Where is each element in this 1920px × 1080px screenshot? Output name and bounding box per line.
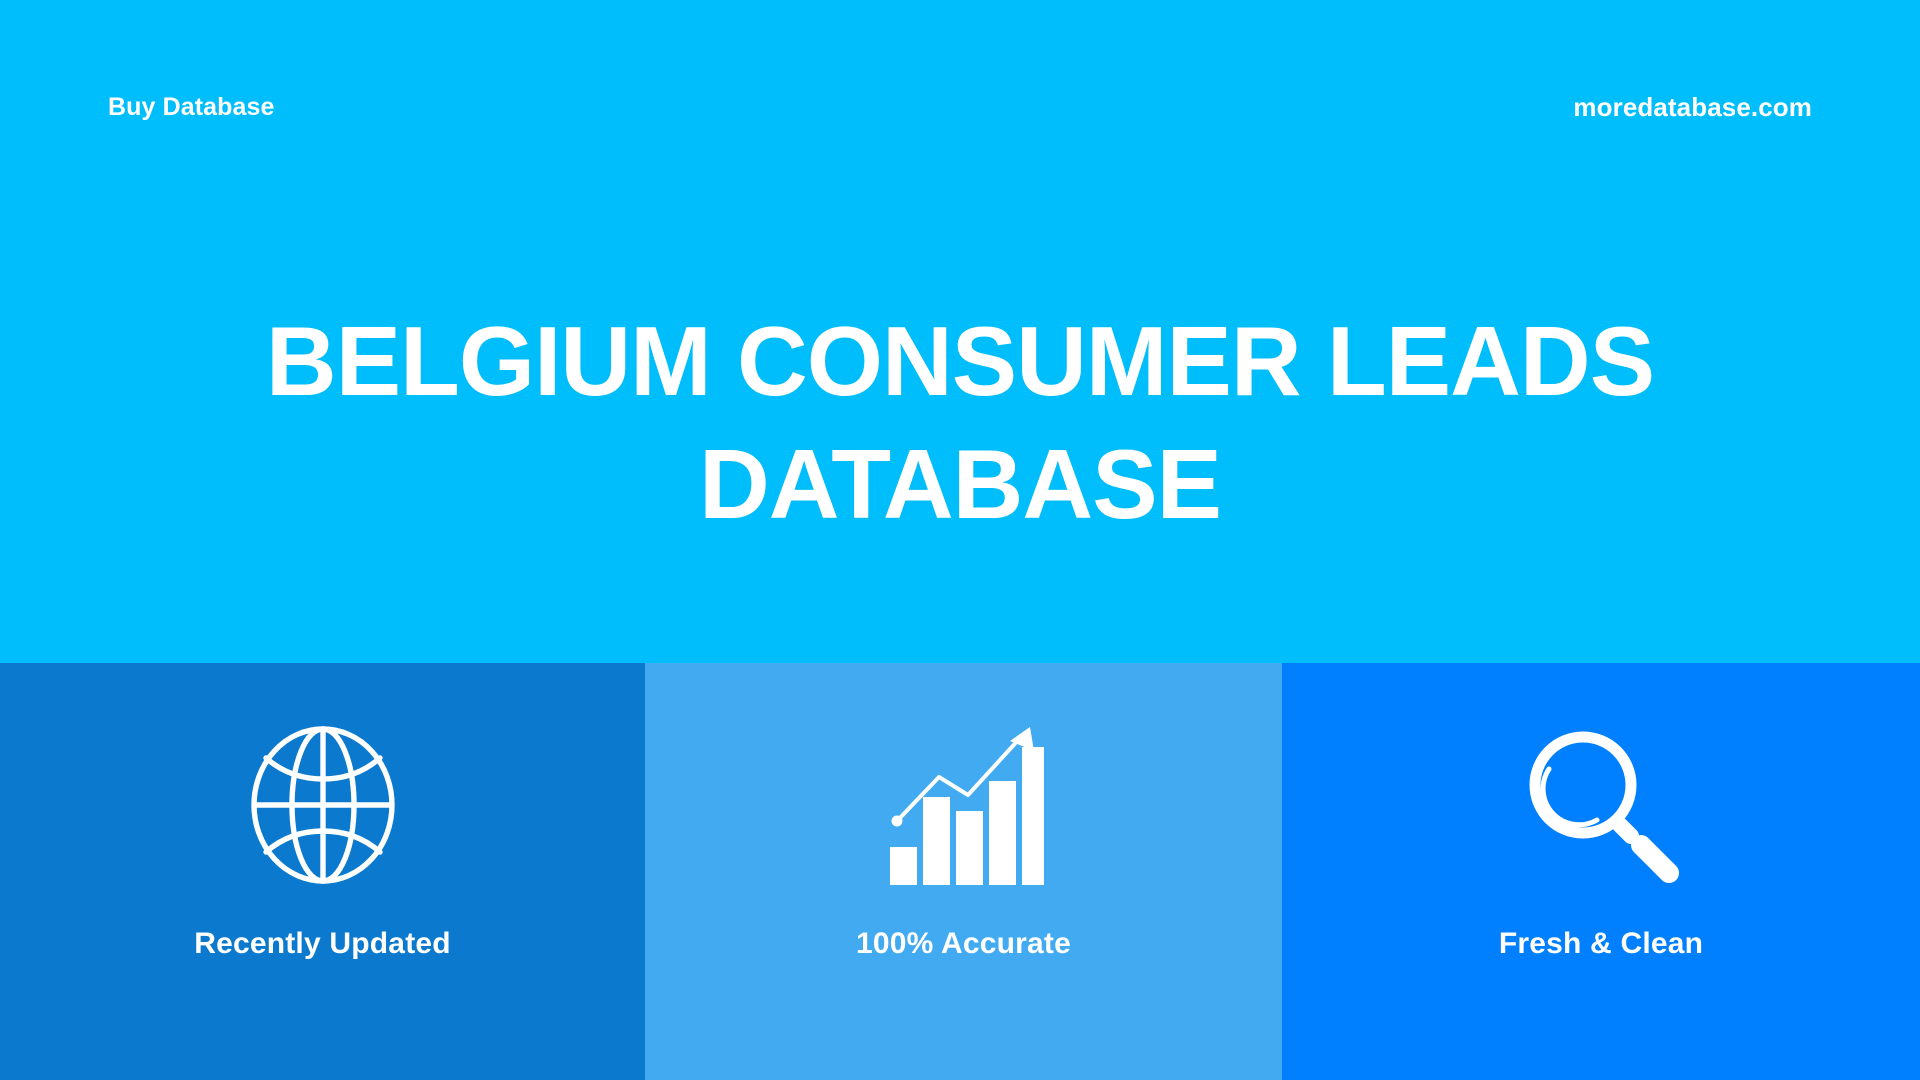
feature-panel-recently-updated: Recently Updated (0, 663, 645, 1080)
globe-icon (243, 725, 403, 885)
trend-start-dot (891, 816, 902, 827)
feature-panels: Recently Updated (0, 663, 1920, 1080)
chart-bars (890, 747, 1044, 885)
website-url-label: moredatabase.com (1573, 92, 1812, 123)
hero-title-wrap: BELGIUM CONSUMER LEADS DATABASE (0, 300, 1920, 547)
feature-label-fresh-clean: Fresh & Clean (1499, 927, 1703, 961)
magnifier-handle (1641, 845, 1669, 873)
magnifier-handle-neck (1620, 825, 1631, 836)
hero-topbar: Buy Database moredatabase.com (0, 0, 1920, 215)
feature-label-recently-updated: Recently Updated (194, 927, 451, 961)
promo-banner: Buy Database moredatabase.com BELGIUM CO… (0, 0, 1920, 1080)
magnifier-icon (1521, 725, 1681, 885)
page-title: BELGIUM CONSUMER LEADS DATABASE (140, 300, 1780, 547)
feature-panel-fresh-clean: Fresh & Clean (1282, 663, 1920, 1080)
feature-label-accurate: 100% Accurate (856, 927, 1071, 961)
hero-section: Buy Database moredatabase.com BELGIUM CO… (0, 0, 1920, 663)
bar-chart-growth-icon (884, 725, 1044, 885)
brand-label-left: Buy Database (108, 93, 275, 122)
feature-panel-accurate: 100% Accurate (645, 663, 1282, 1080)
